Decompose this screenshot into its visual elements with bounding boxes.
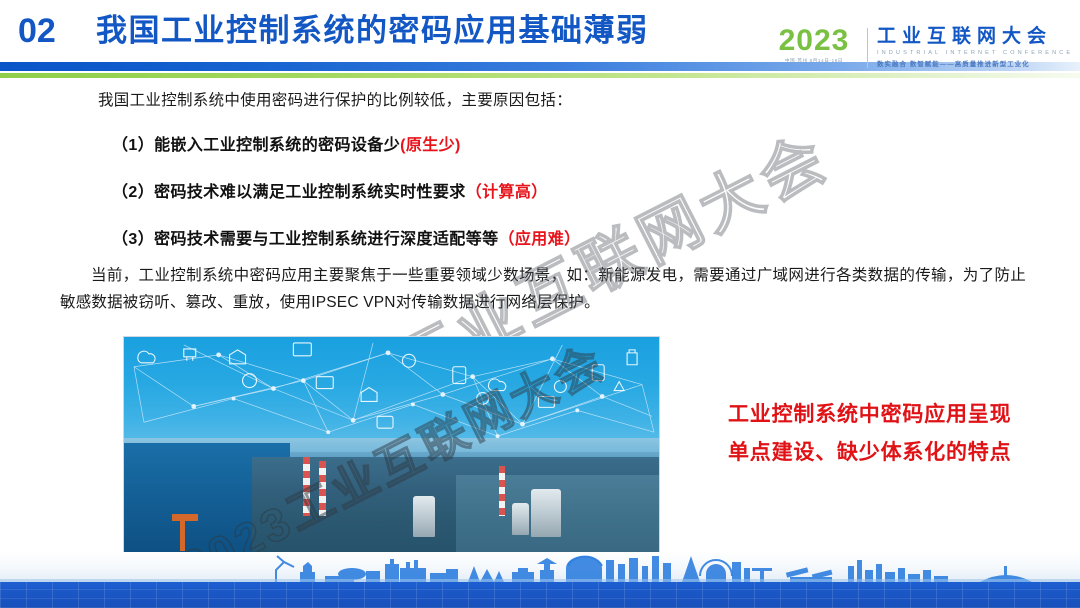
list-item: （1）能嵌入工业控制系统的密码设备少(原生少) <box>112 133 1012 159</box>
list-item: （2）密码技术难以满足工业控制系统实时性要求（计算高） <box>112 180 1012 206</box>
logo-divider <box>867 28 868 68</box>
point-label: （2）密码技术难以满足工业控制系统实时性要求 <box>112 184 466 201</box>
lead-sentence: 我国工业控制系统中使用密码进行保护的比例较低，主要原因包括： <box>98 88 998 114</box>
point-label: （3）密码技术需要与工业控制系统进行深度适配等等 <box>112 231 499 248</box>
point-accent: (原生少) <box>400 137 461 154</box>
slide-footer <box>0 552 1080 608</box>
city-skyline-silhouette <box>0 552 1080 582</box>
conference-logo: 2023 中国·苏州 8月14日-16日 工业互联网大会 INDUSTRIAL … <box>768 26 1073 74</box>
section-number: 02 <box>18 11 56 51</box>
point-accent: （应用难） <box>499 231 581 248</box>
page-title: 我国工业控制系统的密码应用基础薄弱 <box>96 9 649 53</box>
logo-name-en: INDUSTRIAL INTERNET CONFERENCE <box>877 50 1073 56</box>
slide-root: 02 我国工业控制系统的密码应用基础薄弱 2023 中国·苏州 8月14日-16… <box>0 0 1080 608</box>
point-accent: （计算高） <box>466 184 548 201</box>
point-label: （1）能嵌入工业控制系统的密码设备少 <box>112 137 400 154</box>
logo-name-cn: 工业互联网大会 <box>877 26 1073 47</box>
industrial-port-photo: 2023工业互联网大会 <box>123 336 660 568</box>
iot-network-overlay <box>124 337 659 567</box>
callout-line-1: 工业控制系统中密码应用呈现 <box>728 396 1058 434</box>
callout-line-2: 单点建设、缺少体系化的特点 <box>728 434 1058 472</box>
logo-year: 2023 <box>768 26 860 56</box>
list-item: （3）密码技术需要与工业控制系统进行深度适配等等（应用难） <box>112 227 1012 253</box>
body-paragraph: 当前，工业控制系统中密码应用主要聚焦于一些重要领域少数场景，如：新能源发电，需要… <box>60 262 1026 316</box>
logo-year-block: 2023 中国·苏州 8月14日-16日 <box>768 26 860 64</box>
logo-slogan: 数实融合 数智赋能——高质量推进新型工业化 <box>877 59 1073 68</box>
reason-list: （1）能嵌入工业控制系统的密码设备少(原生少) （2）密码技术难以满足工业控制系… <box>112 133 1012 274</box>
logo-year-subtitle: 中国·苏州 8月14日-16日 <box>768 58 860 64</box>
callout-text: 工业控制系统中密码应用呈现 单点建设、缺少体系化的特点 <box>728 396 1058 472</box>
footer-grid-pattern <box>0 582 1080 608</box>
slide-header: 02 我国工业控制系统的密码应用基础薄弱 2023 中国·苏州 8月14日-16… <box>0 0 1080 88</box>
logo-text-block: 工业互联网大会 INDUSTRIAL INTERNET CONFERENCE 数… <box>877 26 1073 68</box>
